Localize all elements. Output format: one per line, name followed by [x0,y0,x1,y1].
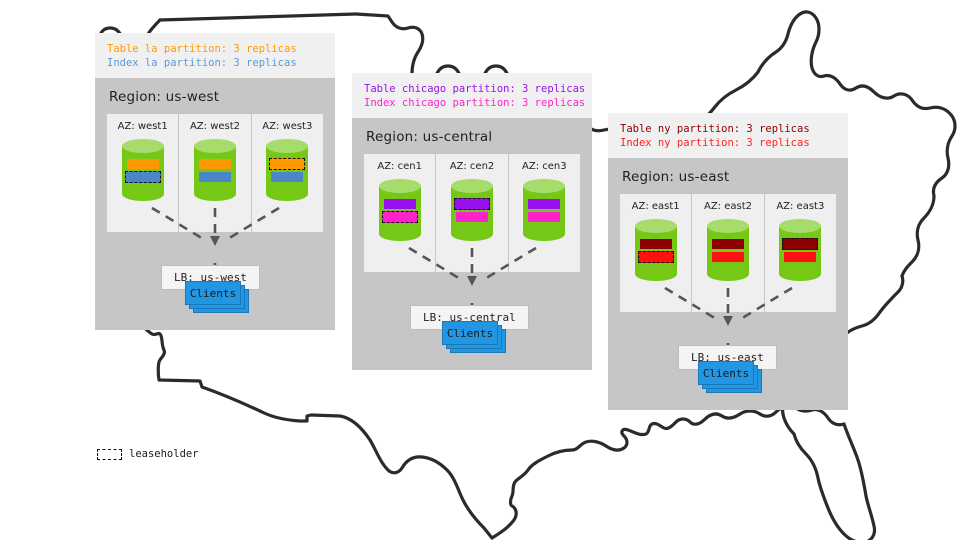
clients-sheet-front: Clients [185,281,241,305]
az-cell-cen2[interactable]: AZ: cen2 [436,154,508,272]
cylinder-body [122,146,164,194]
region-panel-us-east: Table ny partition: 3 replicas Index ny … [608,113,848,410]
cylinder-body [523,186,565,234]
arrowhead [723,316,733,326]
replica-band-index [784,252,816,262]
cylinder-cap [379,179,421,193]
az-cell-east1[interactable]: AZ: east1 [620,194,692,312]
node-cylinder-east2[interactable] [707,219,749,281]
cylinder-cap [635,219,677,233]
dashed-rect-icon [97,449,122,460]
banner-line-table: Table chicago partition: 3 replicas [364,82,580,96]
diagram-canvas: Table la partition: 3 replicas Index la … [0,0,960,540]
node-cylinder-east1[interactable] [635,219,677,281]
cylinder-cap [122,139,164,153]
replica-band-index-leaseholder [382,211,418,223]
cylinder-cap [707,219,749,233]
az-label-cen3: AZ: cen3 [509,161,580,172]
replica-band-table [640,239,672,249]
az-label-cen2: AZ: cen2 [436,161,507,172]
clients-label: Clients [703,367,749,380]
clients-sheet-front: Clients [442,321,498,345]
cylinder-body [635,226,677,274]
az-cell-cen1[interactable]: AZ: cen1 [364,154,436,272]
az-strip-us-east: AZ: east1 AZ: east2 [620,194,836,312]
replica-band-index [271,172,303,182]
arrowhead [467,276,477,286]
cylinder-body [451,186,493,234]
replica-band-index [199,172,231,182]
az-cell-west2[interactable]: AZ: west2 [179,114,251,232]
cylinder-cap [194,139,236,153]
node-cylinder-cen1[interactable] [379,179,421,241]
node-cylinder-east3[interactable] [779,219,821,281]
az-cell-cen3[interactable]: AZ: cen3 [509,154,580,272]
node-cylinder-cen3[interactable] [523,179,565,241]
clients-stack-us-east[interactable]: Clients [698,361,758,387]
node-cylinder-west1[interactable] [122,139,164,201]
clients-stack-us-central[interactable]: Clients [442,321,502,347]
cylinder-body [379,186,421,234]
region-panel-us-central: Table chicago partition: 3 replicas Inde… [352,73,592,370]
replica-band-index-leaseholder [638,251,674,263]
clients-stack-us-west[interactable]: Clients [185,281,245,307]
clients-label: Clients [190,287,236,300]
legend-label: leaseholder [129,448,199,460]
az-label-east1: AZ: east1 [620,201,691,212]
cylinder-cap [266,139,308,153]
arrowhead [210,236,220,246]
region-banner-us-central: Table chicago partition: 3 replicas Inde… [352,73,592,118]
region-panel-us-west: Table la partition: 3 replicas Index la … [95,33,335,330]
az-label-west2: AZ: west2 [179,121,250,132]
az-label-cen1: AZ: cen1 [364,161,435,172]
banner-line-index: Index ny partition: 3 replicas [620,136,836,150]
node-cylinder-west3[interactable] [266,139,308,201]
az-strip-us-west: AZ: west1 AZ: west2 [107,114,323,232]
banner-line-table: Table la partition: 3 replicas [107,42,323,56]
az-label-west1: AZ: west1 [107,121,178,132]
cylinder-cap [779,219,821,233]
az-strip-us-central: AZ: cen1 AZ: cen2 [364,154,580,272]
replica-band-table [528,199,560,209]
region-title-us-east: Region: us-east [608,158,848,194]
region-title-us-central: Region: us-central [352,118,592,154]
banner-line-index: Index chicago partition: 3 replicas [364,96,580,110]
az-label-east2: AZ: east2 [692,201,763,212]
region-banner-us-west: Table la partition: 3 replicas Index la … [95,33,335,78]
cylinder-body [194,146,236,194]
replica-band-table [712,239,744,249]
replica-band-index [456,212,488,222]
replica-band-table [127,159,159,169]
banner-line-table: Table ny partition: 3 replicas [620,122,836,136]
node-cylinder-west2[interactable] [194,139,236,201]
region-banner-us-east: Table ny partition: 3 replicas Index ny … [608,113,848,158]
az-cell-east3[interactable]: AZ: east3 [765,194,836,312]
replica-band-table [384,199,416,209]
az-cell-west1[interactable]: AZ: west1 [107,114,179,232]
node-cylinder-cen2[interactable] [451,179,493,241]
region-title-us-west: Region: us-west [95,78,335,114]
az-cell-east2[interactable]: AZ: east2 [692,194,764,312]
cylinder-body [779,226,821,274]
clients-label: Clients [447,327,493,340]
cylinder-cap [451,179,493,193]
az-label-east3: AZ: east3 [765,201,836,212]
banner-line-index: Index la partition: 3 replicas [107,56,323,70]
replica-band-index [712,252,744,262]
cylinder-body [266,146,308,194]
legend-leaseholder: leaseholder [97,448,199,460]
cylinder-body [707,226,749,274]
clients-sheet-front: Clients [698,361,754,385]
replica-band-table-leaseholder [269,158,305,170]
replica-band-index [528,212,560,222]
replica-band-index-leaseholder [125,171,161,183]
replica-band-table [199,159,231,169]
replica-band-table-leaseholder [454,198,490,210]
cylinder-cap [523,179,565,193]
az-label-west3: AZ: west3 [252,121,323,132]
replica-band-table-leaseholder [782,238,818,250]
az-cell-west3[interactable]: AZ: west3 [252,114,323,232]
